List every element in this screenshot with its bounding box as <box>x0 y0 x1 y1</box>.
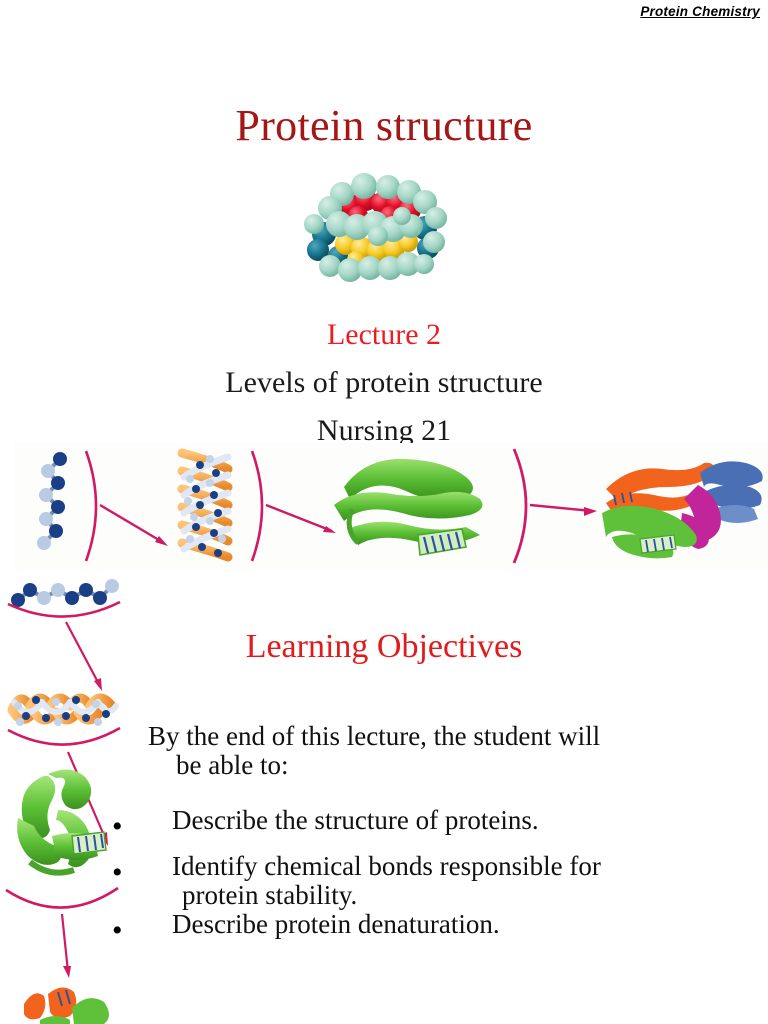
bracket-tertiary <box>514 449 526 563</box>
objective-text: Identify chemical bonds responsible for … <box>112 852 752 910</box>
strip-tertiary-structure <box>17 769 106 872</box>
tertiary-structure-figure <box>334 459 482 555</box>
bullet-icon: • <box>112 858 123 888</box>
list-item: • Describe protein denaturation. <box>112 910 752 956</box>
bullet-icon: • <box>112 812 123 842</box>
strip-quaternary-structure <box>24 987 109 1024</box>
objective-text: Describe the structure of proteins. <box>112 806 752 835</box>
space-filling-protein-svg <box>294 172 454 292</box>
objective-text-line1: Identify chemical bonds responsible for <box>172 851 601 881</box>
objective-text: Describe protein denaturation. <box>112 910 752 939</box>
quaternary-structure-figure <box>602 461 763 558</box>
list-item: • Identify chemical bonds responsible fo… <box>112 852 752 910</box>
space-filling-protein-model <box>294 172 454 292</box>
strip-bracket-secondary <box>8 728 120 745</box>
arrow-tertiary-to-quaternary <box>530 505 597 516</box>
list-item: • Describe the structure of proteins. <box>112 806 752 852</box>
learning-objectives-heading: Learning Objectives <box>0 628 768 666</box>
primary-structure-figure <box>37 452 67 550</box>
protein-structure-levels-horizontal <box>14 443 768 569</box>
bracket-secondary <box>252 451 262 561</box>
arrow-secondary-to-tertiary <box>266 505 336 533</box>
secondary-structure-figure <box>182 453 228 557</box>
bullet-icon: • <box>112 916 123 946</box>
strip-secondary-structure <box>12 696 116 726</box>
strip-bracket-tertiary <box>6 888 118 908</box>
strip-arrow-tertiary-to-quaternary <box>62 914 71 978</box>
lecture-subject: Levels of protein structure <box>0 366 768 400</box>
strip-primary-structure <box>11 579 119 607</box>
running-header: Protein Chemistry <box>640 4 760 19</box>
bracket-primary <box>86 451 96 561</box>
lecture-number: Lecture 2 <box>0 318 768 352</box>
learning-objectives-list: • Describe the structure of proteins. • … <box>112 806 752 956</box>
objectives-intro-line2: be able to: <box>148 751 748 780</box>
objectives-intro-line1: By the end of this lecture, the student … <box>148 721 600 751</box>
slide-page: Protein Chemistry Protein structure <box>0 0 768 1024</box>
learning-objectives-intro: By the end of this lecture, the student … <box>148 722 748 779</box>
page-title: Protein structure <box>0 100 768 151</box>
structure-levels-band-svg <box>14 443 768 569</box>
arrow-primary-to-secondary <box>100 505 168 546</box>
objective-text-line2: protein stability. <box>172 881 752 910</box>
